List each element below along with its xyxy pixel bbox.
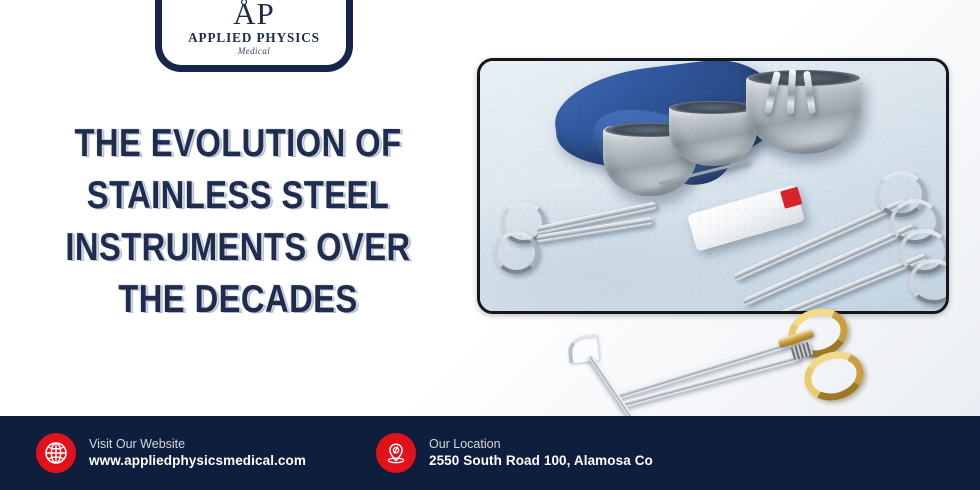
instrument-in-bowl bbox=[764, 71, 782, 114]
blue-surgical-drape-fold bbox=[587, 101, 737, 191]
globe-icon bbox=[36, 433, 76, 473]
blue-surgical-drape bbox=[549, 58, 783, 179]
location-address: 2550 South Road 100, Alamosa Co bbox=[429, 452, 653, 470]
steel-bowl-medium bbox=[669, 104, 758, 167]
suture-package bbox=[687, 184, 805, 251]
hemostat-ring-handle bbox=[909, 259, 949, 305]
banner-headline: The Evolution of Stainless Steel Instrum… bbox=[48, 118, 428, 326]
logo-division-name: Medical bbox=[238, 46, 270, 57]
scissors-ring-handle bbox=[501, 201, 546, 244]
foreground-instruments bbox=[560, 300, 960, 435]
steel-bowl-large bbox=[746, 74, 863, 154]
instrument-in-bowl bbox=[803, 71, 816, 114]
company-logo-box: ÅP APPLIED PHYSICS Medical bbox=[155, 0, 353, 72]
surgical-instruments-photo bbox=[477, 58, 949, 314]
steel-bowl-small bbox=[603, 126, 696, 196]
needle-holder-jaw bbox=[615, 338, 799, 400]
hemostat-ring-handle bbox=[890, 199, 940, 245]
hemostat-forceps bbox=[734, 198, 907, 281]
scissors-ring-handle bbox=[494, 231, 539, 274]
footer-item-location[interactable]: Our Location 2550 South Road 100, Alamos… bbox=[376, 433, 653, 473]
suture-thread bbox=[658, 160, 749, 185]
scissors-blade bbox=[536, 201, 656, 234]
website-label: Visit Our Website bbox=[89, 436, 306, 452]
promotional-banner: ÅP APPLIED PHYSICS Medical The Evolution… bbox=[0, 0, 980, 490]
logo-company-name: APPLIED PHYSICS bbox=[188, 30, 320, 45]
package-red-tab bbox=[780, 186, 802, 208]
needle-holder-shank bbox=[620, 354, 801, 409]
contact-footer: Visit Our Website www.appliedphysicsmedi… bbox=[0, 416, 980, 490]
location-pin-icon bbox=[376, 433, 416, 473]
hemostat-forceps bbox=[743, 223, 916, 306]
hemostat-ring-handle bbox=[899, 229, 949, 275]
logo-monogram: ÅP bbox=[233, 0, 275, 29]
location-label: Our Location bbox=[429, 436, 653, 452]
hemostat-ring-handle bbox=[876, 171, 926, 217]
photo-content bbox=[480, 61, 946, 311]
instrument-in-bowl bbox=[786, 68, 796, 113]
website-url[interactable]: www.appliedphysicsmedical.com bbox=[89, 452, 306, 470]
scissors-blade bbox=[536, 217, 652, 243]
footer-item-website[interactable]: Visit Our Website www.appliedphysicsmedi… bbox=[36, 433, 306, 473]
